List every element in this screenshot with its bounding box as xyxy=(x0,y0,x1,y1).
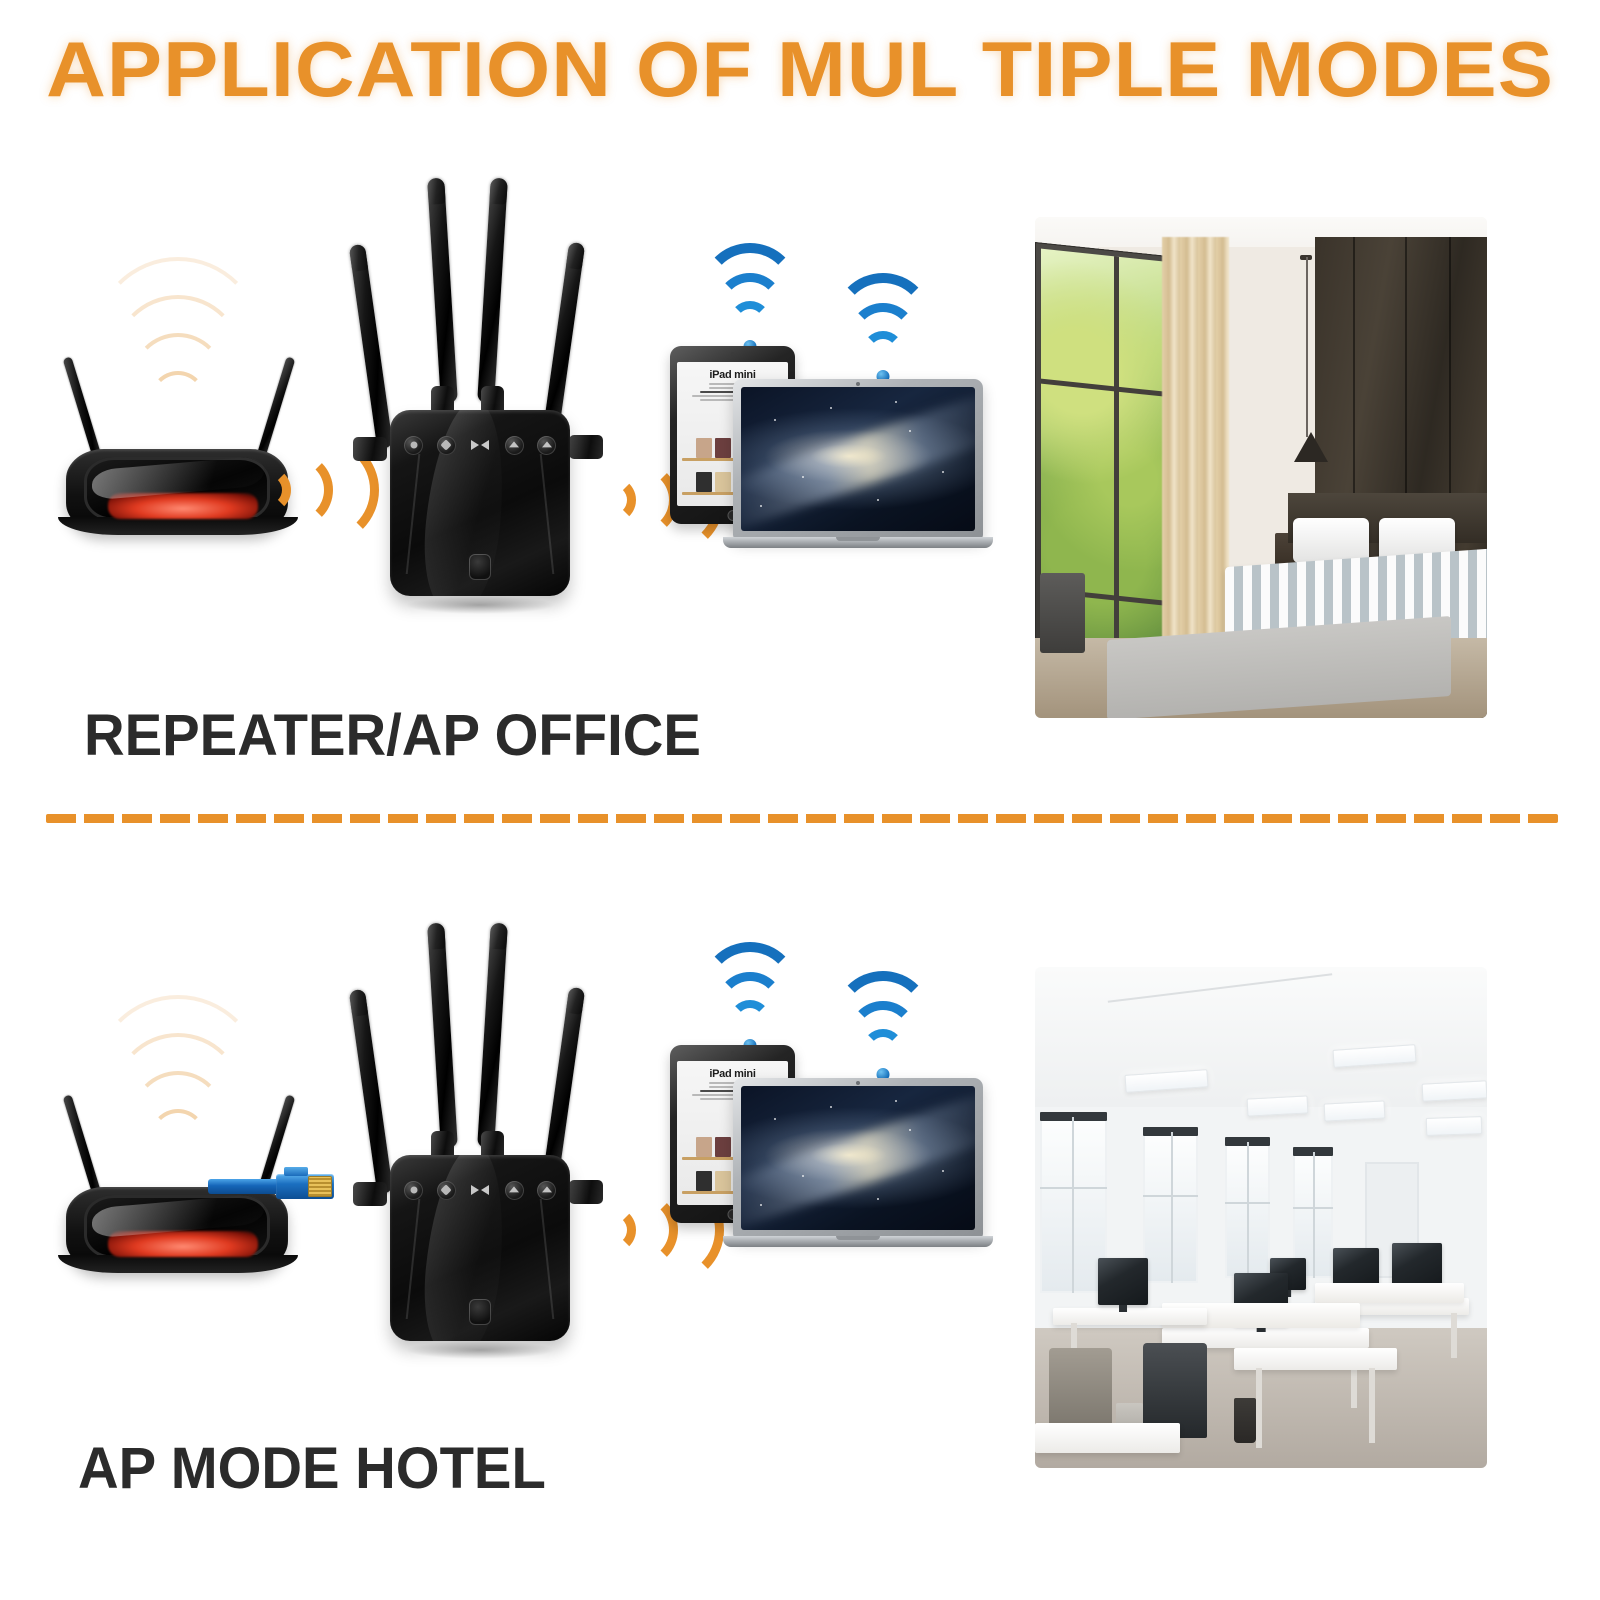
laptop-notch xyxy=(836,1236,880,1240)
extender-antenna-center-left xyxy=(427,923,458,1149)
power-led-icon xyxy=(404,436,423,455)
rj45-connector xyxy=(276,1174,334,1199)
wifi-access-point xyxy=(345,917,615,1347)
wifi-icon-laptop xyxy=(838,315,928,383)
router-signal-arcs-faint xyxy=(103,1069,253,1165)
tablet-camera-icon xyxy=(731,352,735,356)
section-divider xyxy=(46,814,1558,823)
extender-led-row xyxy=(404,1179,556,1201)
laptop-camera-icon xyxy=(856,382,860,386)
router-signal-arcs-faint xyxy=(103,331,253,427)
band-2g-led-icon xyxy=(505,436,524,455)
office-interior-photo xyxy=(1035,967,1487,1468)
router-antenna-left xyxy=(63,1094,103,1200)
laptop-device xyxy=(733,379,983,559)
signal-led-icon xyxy=(437,1181,456,1200)
band-5g-led-icon xyxy=(537,1181,556,1200)
laptop-lid xyxy=(733,1078,983,1238)
wifi-icon-laptop xyxy=(838,1013,928,1081)
extender-led-row xyxy=(404,434,556,456)
extender-side-hinge-left xyxy=(353,437,387,461)
extender-power-button[interactable] xyxy=(469,554,491,580)
wifi-icon-tablet xyxy=(700,977,800,1052)
extender-side-hinge-left xyxy=(353,1182,387,1206)
bedroom-interior-photo xyxy=(1035,217,1487,718)
tablet-camera-icon xyxy=(731,1051,735,1055)
router-antenna-left xyxy=(63,356,103,462)
panel-label-ap-mode: AP MODE HOTEL xyxy=(78,1435,546,1502)
extender-antenna-center-right xyxy=(477,178,508,404)
extender-antenna-center-left xyxy=(427,178,458,404)
wps-led-icon xyxy=(469,436,491,455)
extender-antenna-center-right xyxy=(477,923,508,1149)
extender-antenna-left xyxy=(349,989,393,1194)
panel-repeater: iPad mini xyxy=(0,150,1600,810)
extender-power-button[interactable] xyxy=(469,1299,491,1325)
infographic-page: APPLICATION OF MUL TIPLE MODES xyxy=(0,0,1600,1600)
page-title: APPLICATION OF MUL TIPLE MODES xyxy=(0,24,1600,115)
power-led-icon xyxy=(404,1181,423,1200)
laptop-notch xyxy=(836,537,880,541)
extender-body xyxy=(390,1155,570,1341)
laptop-screen xyxy=(741,387,975,531)
laptop-device xyxy=(733,1078,983,1258)
panel-label-repeater: REPEATER/AP OFFICE xyxy=(84,702,701,769)
extender-antenna-left xyxy=(349,244,393,449)
extender-body xyxy=(390,410,570,596)
ethernet-cable xyxy=(208,1174,358,1198)
wifi-range-extender xyxy=(345,172,615,602)
band-2g-led-icon xyxy=(505,1181,524,1200)
laptop-screen xyxy=(741,1086,975,1230)
router-base xyxy=(58,1255,298,1273)
laptop-lid xyxy=(733,379,983,539)
laptop-camera-icon xyxy=(856,1081,860,1085)
wifi-icon-tablet xyxy=(700,278,800,353)
band-5g-led-icon xyxy=(537,436,556,455)
panel-ap-mode: iPad mini xyxy=(0,895,1600,1555)
signal-led-icon xyxy=(437,436,456,455)
wps-led-icon xyxy=(469,1181,491,1200)
